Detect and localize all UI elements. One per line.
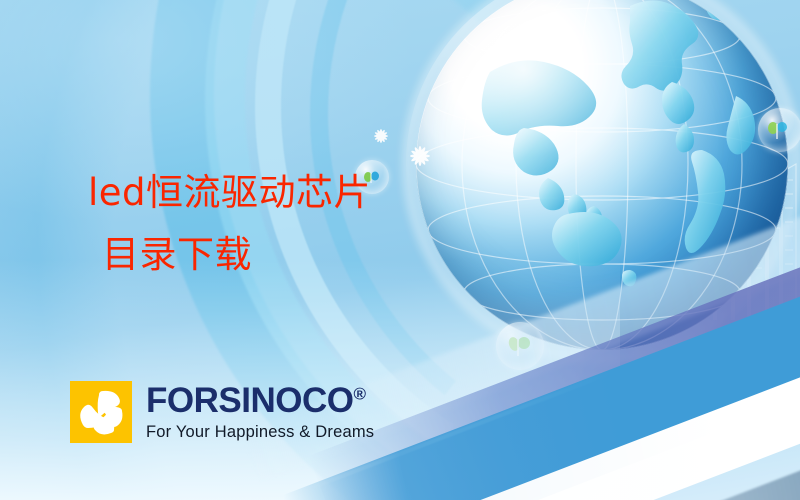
four-petal-pinwheel-icon — [70, 381, 132, 443]
globe-continents — [416, 0, 788, 350]
ribbon-gray-edge — [511, 395, 800, 500]
globe-sphere — [416, 0, 788, 350]
logo-wordmark: FORSINOCO® — [146, 383, 374, 418]
logo-tagline: For Your Happiness & Dreams — [146, 424, 374, 441]
star-flower-icon — [371, 126, 391, 151]
headline: led恒流驱动芯片 目录下载 — [88, 162, 371, 286]
bubble-with-sprout-icon — [496, 322, 544, 370]
registered-trademark-icon: ® — [353, 385, 366, 404]
headline-line-2: 目录下载 — [88, 224, 371, 286]
logo-wordmark-text: FORSINOCO — [146, 381, 353, 420]
bubble-with-sprout-icon — [758, 108, 800, 152]
promo-banner: led恒流驱动芯片 目录下载 FORSINOCO® For Your Happi… — [0, 0, 800, 500]
logo-text-block: FORSINOCO® For Your Happiness & Dreams — [146, 383, 374, 441]
star-flower-icon — [406, 142, 434, 175]
globe-icon — [416, 0, 788, 350]
brand-logo: FORSINOCO® For Your Happiness & Dreams — [70, 381, 374, 443]
headline-line-1: led恒流驱动芯片 — [88, 162, 371, 224]
